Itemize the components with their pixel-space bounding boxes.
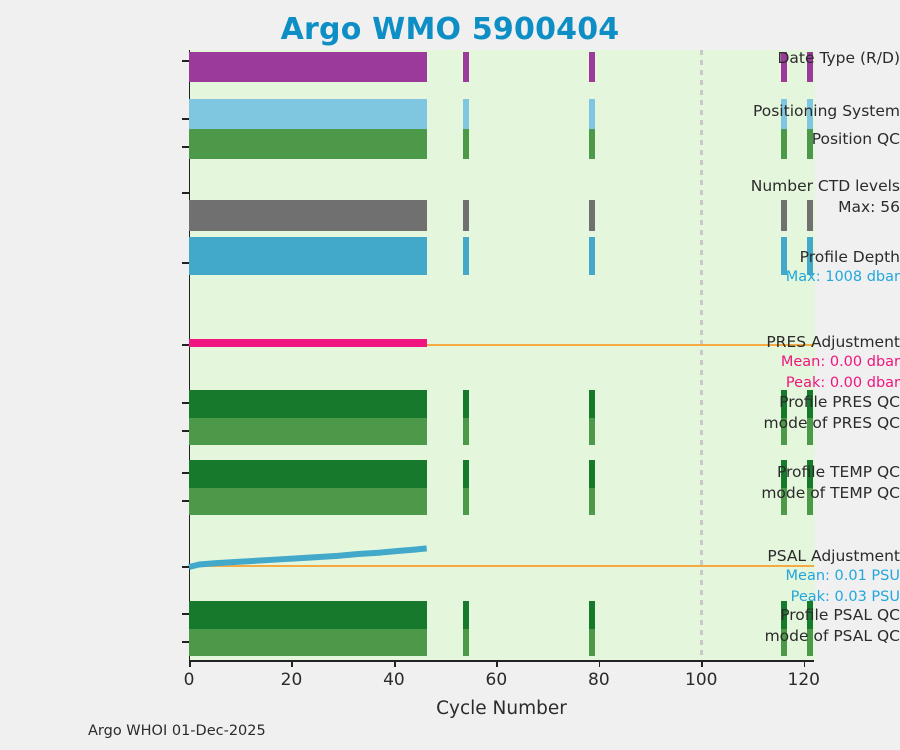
pres-adjustment-bar: [189, 339, 427, 347]
bar-segment: [463, 418, 469, 445]
x-tick-mark: [291, 660, 293, 667]
bar-segment: [189, 237, 427, 275]
x-tick-label: 40: [364, 670, 424, 690]
bar-segment: [589, 418, 595, 445]
bar-segment: [463, 601, 469, 629]
x-tick-label: 0: [159, 670, 219, 690]
bar-segment: [463, 52, 469, 82]
row-label-psal-adjustment-note2: Peak: 0.03 PSU: [718, 590, 900, 606]
x-tick-label: 120: [774, 670, 834, 690]
bar-segment: [463, 237, 469, 275]
x-tick-mark: [701, 660, 703, 667]
bar-segment: [189, 52, 427, 82]
x-tick-label: 100: [671, 670, 731, 690]
y-tick: [182, 262, 189, 264]
row-label-profile-temp-qc: Profile TEMP QC: [718, 464, 900, 481]
y-tick: [182, 344, 189, 346]
row-label-pres-adjustment-note2: Peak: 0.00 dbar: [718, 376, 900, 392]
row-label-profile-psal-qc: Profile PSAL QC: [718, 607, 900, 624]
x-tick-mark: [804, 660, 806, 667]
bar-segment: [189, 460, 427, 488]
row-label-profile-psal-qc-note1: mode of PSAL QC: [718, 628, 900, 645]
bar-segment: [589, 237, 595, 275]
row-label-profile-depth-note1: Max: 1008 dbar: [718, 270, 900, 286]
y-tick: [182, 613, 189, 615]
row-label-position-qc: Position QC: [718, 131, 900, 148]
bar-segment: [589, 601, 595, 629]
row-label-psal-adjustment-note1: Mean: 0.01 PSU: [718, 569, 900, 585]
y-tick: [182, 566, 189, 568]
y-tick: [182, 641, 189, 643]
row-label-profile-temp-qc-note1: mode of TEMP QC: [718, 485, 900, 502]
y-tick: [182, 500, 189, 502]
x-tick-mark: [496, 660, 498, 667]
psal-zero-line: [189, 565, 814, 567]
bar-segment: [589, 390, 595, 418]
y-tick: [182, 146, 189, 148]
reference-line: [700, 50, 703, 660]
bar-segment: [463, 629, 469, 656]
row-label-date-type: Date Type (R/D): [718, 50, 900, 67]
bar-segment: [463, 390, 469, 418]
y-tick: [182, 472, 189, 474]
row-label-pres-adjustment-note1: Mean: 0.00 dbar: [718, 355, 900, 371]
row-label-profile-pres-qc-note1: mode of PRES QC: [718, 415, 900, 432]
bar-segment: [463, 488, 469, 515]
bar-segment: [189, 200, 427, 231]
bar-segment: [463, 129, 469, 159]
x-tick-mark: [189, 660, 191, 667]
x-tick-label: 20: [261, 670, 321, 690]
bar-segment: [463, 200, 469, 231]
bar-segment: [589, 52, 595, 82]
y-tick: [182, 402, 189, 404]
y-tick: [182, 192, 189, 194]
bar-segment: [189, 488, 427, 515]
bar-segment: [189, 99, 427, 129]
bar-segment: [189, 601, 427, 629]
bar-segment: [189, 629, 427, 656]
figure-canvas: Argo WMO 5900404 Date Type (R/D)Position…: [0, 0, 900, 750]
row-label-ctd-levels-note1: Max: 56: [718, 199, 900, 216]
bar-segment: [463, 460, 469, 488]
row-label-positioning-system: Positioning System: [718, 103, 900, 120]
bar-segment: [189, 129, 427, 159]
row-label-profile-pres-qc: Profile PRES QC: [718, 394, 900, 411]
row-label-ctd-levels: Number CTD levels: [718, 178, 900, 195]
y-tick: [182, 118, 189, 120]
bar-segment: [463, 99, 469, 129]
bar-segment: [589, 488, 595, 515]
x-tick-label: 80: [569, 670, 629, 690]
row-label-psal-adjustment: PSAL Adjustment: [718, 548, 900, 565]
bar-segment: [589, 129, 595, 159]
bar-segment: [189, 418, 427, 445]
bar-segment: [589, 200, 595, 231]
y-tick: [182, 60, 189, 62]
bar-segment: [589, 99, 595, 129]
x-tick-mark: [599, 660, 601, 667]
row-label-pres-adjustment: PRES Adjustment: [718, 334, 900, 351]
y-tick: [182, 430, 189, 432]
bar-segment: [189, 390, 427, 418]
x-tick-label: 60: [466, 670, 526, 690]
x-axis-line: [189, 660, 814, 662]
bar-segment: [589, 460, 595, 488]
page-title: Argo WMO 5900404: [0, 12, 900, 47]
x-tick-mark: [394, 660, 396, 667]
row-label-profile-depth: Profile Depth: [718, 249, 900, 266]
x-axis-title: Cycle Number: [189, 698, 814, 719]
bar-segment: [589, 629, 595, 656]
footer-credit: Argo WHOI 01-Dec-2025: [88, 723, 266, 739]
